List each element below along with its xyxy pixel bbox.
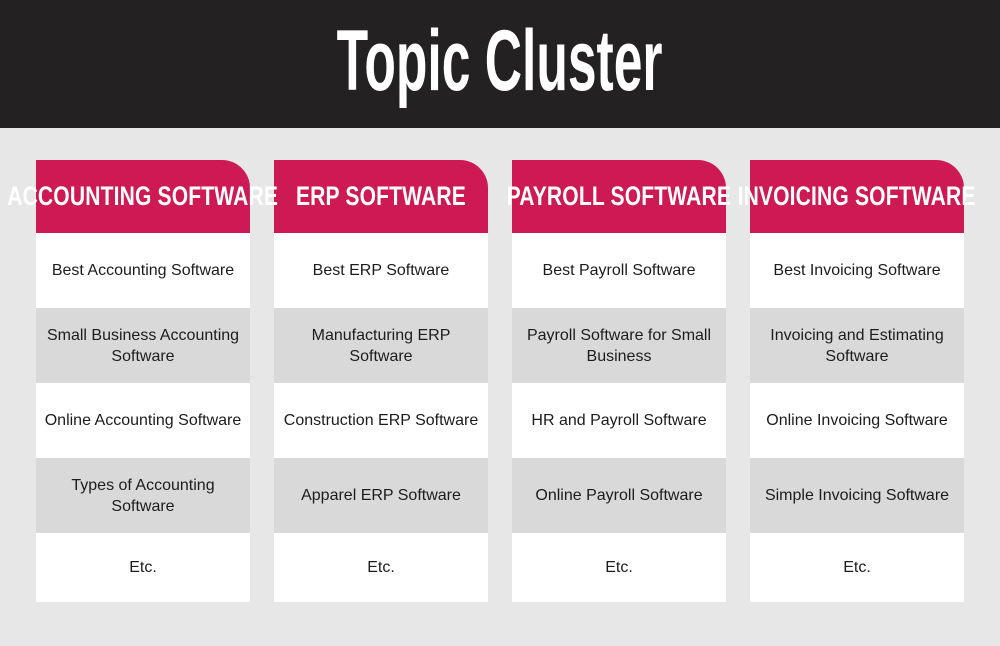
topic-label: Types of Accounting Software xyxy=(44,475,242,517)
column-header-invoicing-software[interactable]: INVOICING SOFTWARE xyxy=(750,160,964,233)
topic-label: Best Accounting Software xyxy=(52,260,234,281)
topic-cell[interactable]: Best Accounting Software xyxy=(36,233,250,308)
topic-cell[interactable]: Etc. xyxy=(750,533,964,602)
column-header-label: INVOICING SOFTWARE xyxy=(738,183,976,210)
column-header-label: ACCOUNTING SOFTWARE xyxy=(8,183,279,210)
topic-label: Construction ERP Software xyxy=(284,410,478,431)
topic-label: HR and Payroll Software xyxy=(531,410,706,431)
cluster-column-erp-software: ERP SOFTWARE Best ERP Software Manufactu… xyxy=(274,160,488,602)
topic-label: Best Invoicing Software xyxy=(773,260,940,281)
topic-cell[interactable]: Manufacturing ERP Software xyxy=(274,308,488,383)
topic-label: Etc. xyxy=(605,557,633,578)
topic-cell[interactable]: Apparel ERP Software xyxy=(274,458,488,533)
topic-label: Invoicing and Estimating Software xyxy=(758,325,956,367)
topic-cell[interactable]: Online Payroll Software xyxy=(512,458,726,533)
column-header-label: ERP SOFTWARE xyxy=(296,183,466,210)
topic-label: Etc. xyxy=(367,557,395,578)
topic-label: Online Accounting Software xyxy=(45,410,242,431)
topic-cell[interactable]: Best Payroll Software xyxy=(512,233,726,308)
column-header-erp-software[interactable]: ERP SOFTWARE xyxy=(274,160,488,233)
title-bar: Topic Cluster xyxy=(0,0,1000,128)
topic-label: Online Invoicing Software xyxy=(766,410,947,431)
column-header-label: PAYROLL SOFTWARE xyxy=(507,183,731,210)
topic-label: Manufacturing ERP Software xyxy=(282,325,480,367)
topic-cell[interactable]: HR and Payroll Software xyxy=(512,383,726,458)
column-header-accounting-software[interactable]: ACCOUNTING SOFTWARE xyxy=(36,160,250,233)
topic-label: Simple Invoicing Software xyxy=(765,485,949,506)
topic-cell[interactable]: Best ERP Software xyxy=(274,233,488,308)
topic-label: Best Payroll Software xyxy=(543,260,696,281)
topic-cell[interactable]: Invoicing and Estimating Software xyxy=(750,308,964,383)
topic-cell[interactable]: Best Invoicing Software xyxy=(750,233,964,308)
topic-cell[interactable]: Small Business Accounting Software xyxy=(36,308,250,383)
topic-label: Apparel ERP Software xyxy=(301,485,461,506)
topic-cell[interactable]: Etc. xyxy=(512,533,726,602)
topic-label: Payroll Software for Small Business xyxy=(520,325,718,367)
topic-cell[interactable]: Types of Accounting Software xyxy=(36,458,250,533)
topic-cell[interactable]: Online Invoicing Software xyxy=(750,383,964,458)
topic-cluster-infographic: Topic Cluster ACCOUNTING SOFTWARE Best A… xyxy=(0,0,1000,646)
topic-label: Online Payroll Software xyxy=(535,485,702,506)
topic-cell[interactable]: Payroll Software for Small Business xyxy=(512,308,726,383)
topic-cell[interactable]: Etc. xyxy=(36,533,250,602)
topic-label: Best ERP Software xyxy=(313,260,450,281)
topic-label: Small Business Accounting Software xyxy=(44,325,242,367)
topic-label: Etc. xyxy=(843,557,871,578)
cluster-column-accounting-software: ACCOUNTING SOFTWARE Best Accounting Soft… xyxy=(36,160,250,602)
cluster-column-invoicing-software: INVOICING SOFTWARE Best Invoicing Softwa… xyxy=(750,160,964,602)
topic-cell[interactable]: Etc. xyxy=(274,533,488,602)
topic-cell[interactable]: Online Accounting Software xyxy=(36,383,250,458)
cluster-column-payroll-software: PAYROLL SOFTWARE Best Payroll Software P… xyxy=(512,160,726,602)
topic-cell[interactable]: Construction ERP Software xyxy=(274,383,488,458)
column-header-payroll-software[interactable]: PAYROLL SOFTWARE xyxy=(512,160,726,233)
topic-label: Etc. xyxy=(129,557,157,578)
cluster-columns: ACCOUNTING SOFTWARE Best Accounting Soft… xyxy=(36,160,964,602)
page-title: Topic Cluster xyxy=(337,18,663,110)
topic-cell[interactable]: Simple Invoicing Software xyxy=(750,458,964,533)
